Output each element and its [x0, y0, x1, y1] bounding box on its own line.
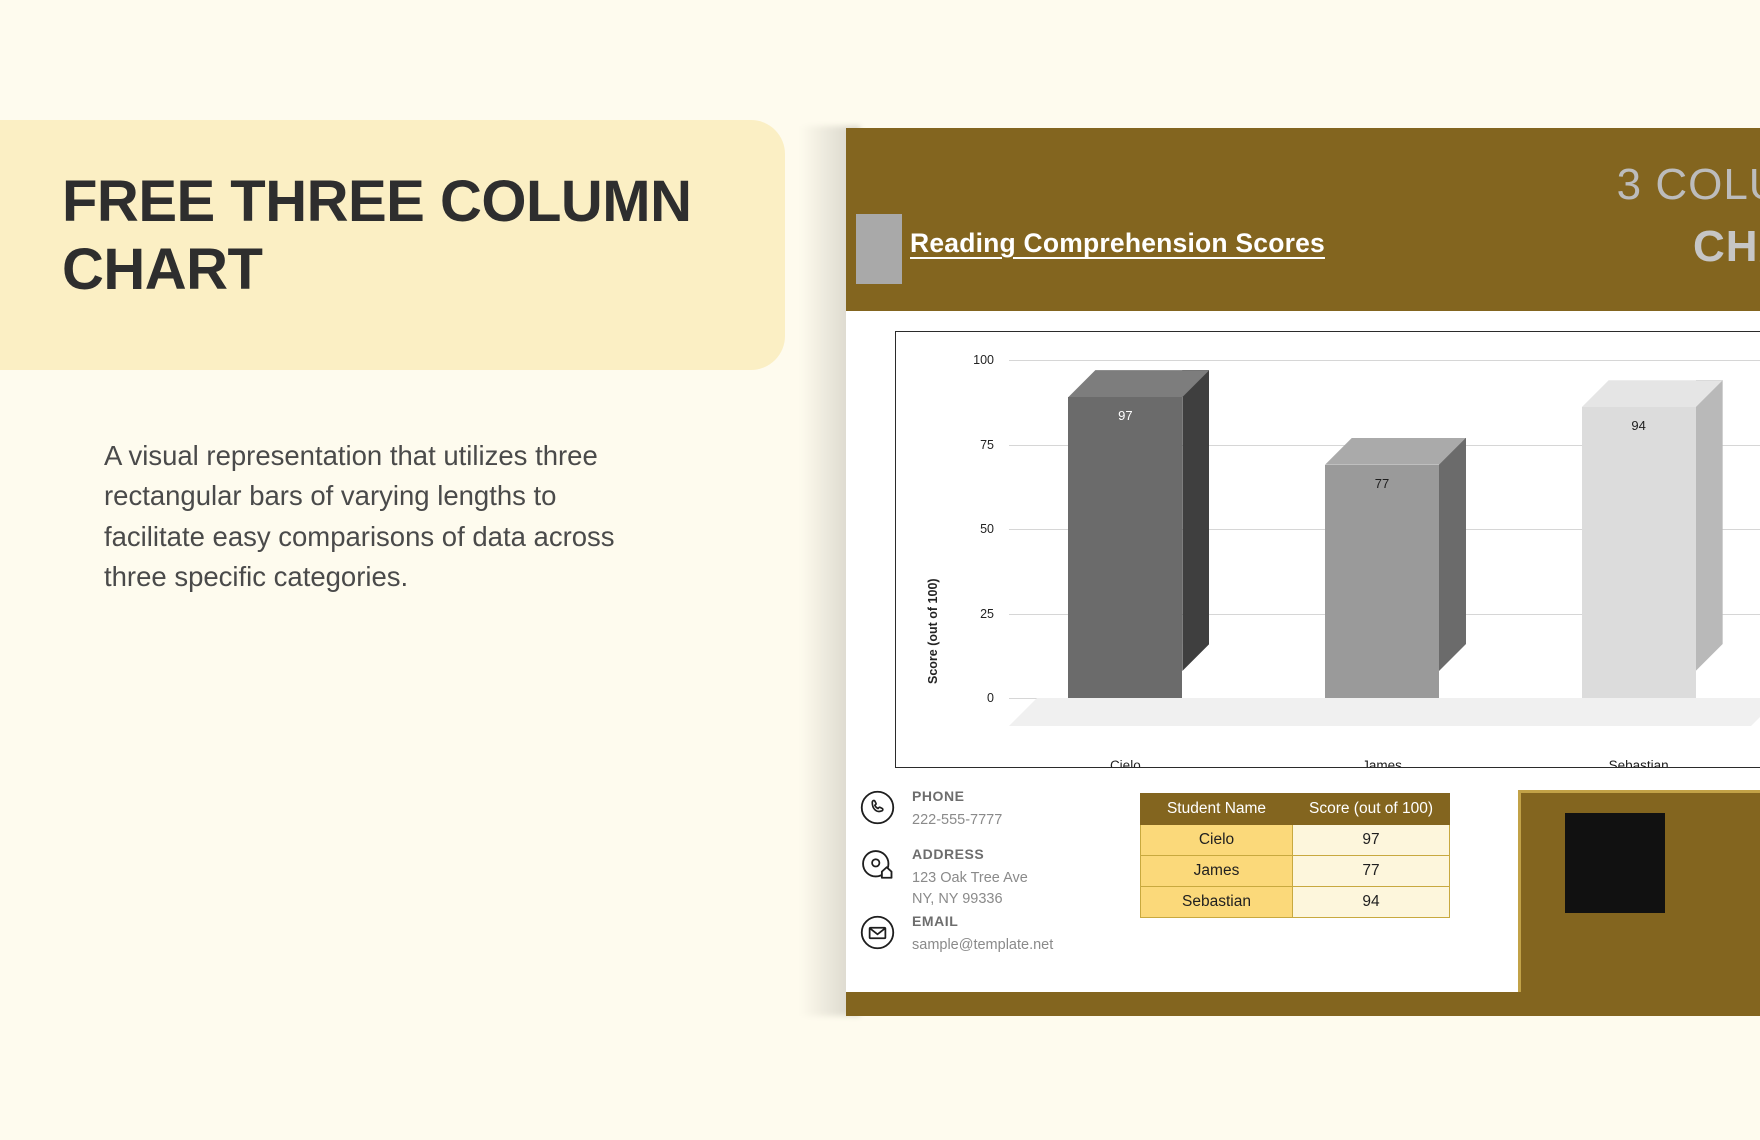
- bar-front-face: [1068, 397, 1182, 698]
- x-axis-label: Cielo: [1048, 758, 1202, 768]
- contact-label-email: EMAIL: [912, 913, 1130, 929]
- x-axis-label: Sebastian: [1562, 758, 1716, 768]
- qr-code: [1565, 813, 1665, 913]
- y-axis-label: Score (out of 100): [926, 578, 940, 684]
- y-axis-tick: 25: [980, 607, 1007, 621]
- cell-student-name: Cielo: [1141, 825, 1293, 856]
- slide-canvas: FREE THREE COLUMN CHART A visual represe…: [0, 0, 1760, 1140]
- document-footer: [846, 992, 1760, 1016]
- contact-row-email: EMAIL sample@template.net: [860, 913, 1130, 967]
- cell-score: 97: [1293, 825, 1450, 856]
- chart-floor: [1009, 698, 1760, 726]
- header-swatch: [856, 214, 902, 284]
- y-axis-tick: 50: [980, 522, 1007, 536]
- table-row: James77: [1141, 856, 1450, 887]
- brand-title: 3 COLUMN CHART: [1617, 154, 1760, 279]
- bar-side-face: [1696, 380, 1723, 671]
- chart-document: Reading Comprehension Scores 3 COLUMN CH…: [846, 128, 1760, 1016]
- bar-value-label: 77: [1325, 476, 1439, 491]
- chart-area: Score (out of 100) 100755025097Cielo77Ja…: [895, 331, 1760, 768]
- contact-value-email: sample@template.net: [912, 935, 1130, 956]
- plot-region: 100755025097Cielo77James94Sebastian: [1009, 360, 1760, 698]
- bar-value-label: 94: [1582, 418, 1696, 433]
- y-axis-tick: 0: [987, 691, 1007, 705]
- chart-title: Reading Comprehension Scores: [910, 228, 1325, 259]
- y-axis-tick: 100: [973, 353, 1007, 367]
- email-icon: [860, 915, 895, 950]
- table-row: Cielo97: [1141, 825, 1450, 856]
- cell-student-name: Sebastian: [1141, 887, 1293, 918]
- cell-score: 94: [1293, 887, 1450, 918]
- table-header-row: Student Name Score (out of 100): [1141, 794, 1450, 825]
- table-row: Sebastian94: [1141, 887, 1450, 918]
- contact-value-address: 123 Oak Tree Ave NY, NY 99336: [912, 868, 1130, 909]
- document-header: Reading Comprehension Scores 3 COLUMN CH…: [846, 128, 1760, 311]
- brand-line-2: CHART: [1617, 216, 1760, 278]
- page-title: FREE THREE COLUMN CHART: [62, 168, 762, 304]
- table-header-score: Score (out of 100): [1293, 794, 1450, 825]
- bar-value-label: 97: [1068, 408, 1182, 423]
- contact-value-phone: 222-555-7777: [912, 810, 1130, 831]
- bar-sebastian: 94: [1582, 380, 1696, 698]
- promo-description: A visual representation that utilizes th…: [104, 436, 664, 598]
- bar-cielo: 97: [1068, 370, 1182, 698]
- contact-row-phone: PHONE 222-555-7777: [860, 788, 1130, 842]
- phone-icon: [860, 790, 895, 825]
- bar-front-face: [1582, 407, 1696, 698]
- bar-side-face: [1439, 438, 1466, 671]
- bar-front-face: [1325, 465, 1439, 698]
- contact-row-address: ADDRESS 123 Oak Tree Ave NY, NY 99336: [860, 846, 1130, 909]
- x-axis-label: James: [1305, 758, 1459, 768]
- contact-block: PHONE 222-555-7777 ADDRESS 123 Oak Tree …: [860, 788, 1130, 971]
- table-header-name: Student Name: [1141, 794, 1293, 825]
- gridline: [1009, 360, 1760, 361]
- data-table: Student Name Score (out of 100) Cielo97J…: [1140, 793, 1450, 918]
- y-axis-tick: 75: [980, 438, 1007, 452]
- cta-block[interactable]: Color: [1518, 790, 1760, 1016]
- address-icon: [860, 848, 895, 883]
- contact-label-address: ADDRESS: [912, 846, 1130, 862]
- contact-label-phone: PHONE: [912, 788, 1130, 804]
- cell-student-name: James: [1141, 856, 1293, 887]
- bar-james: 77: [1325, 438, 1439, 698]
- bar-side-face: [1182, 370, 1209, 671]
- table-body: Cielo97James77Sebastian94: [1141, 825, 1450, 918]
- brand-line-1: 3 COLUMN: [1617, 154, 1760, 216]
- cell-score: 77: [1293, 856, 1450, 887]
